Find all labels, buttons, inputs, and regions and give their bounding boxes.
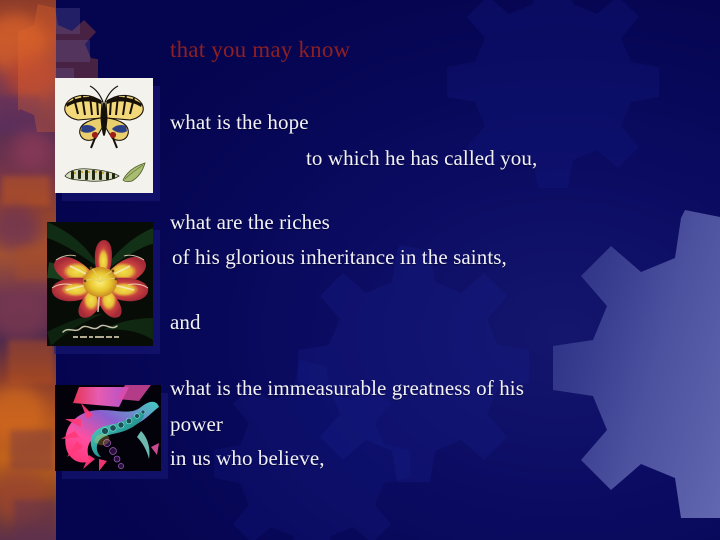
body-line-6: what is the immeasurable greatness of hi… [170,376,524,401]
body-line-4: of his glorious inheritance in the saint… [172,245,507,270]
body-line-8: in us who believe, [170,446,325,471]
body-line-2: to which he has called you, [306,146,537,171]
image-butterfly-plate [55,78,153,193]
slide: that you may know what is the hope to wh… [0,0,720,540]
slide-title: that you may know [170,37,350,63]
lobe-2 [56,40,90,62]
lobe-1 [56,8,80,34]
body-line-5: and [170,310,201,335]
body-line-1: what is the hope [170,110,309,135]
image-fractal-spiral [55,385,161,471]
image-daylily-photo [47,222,153,346]
body-line-7: power [170,412,223,437]
body-line-3: what are the riches [170,210,330,235]
